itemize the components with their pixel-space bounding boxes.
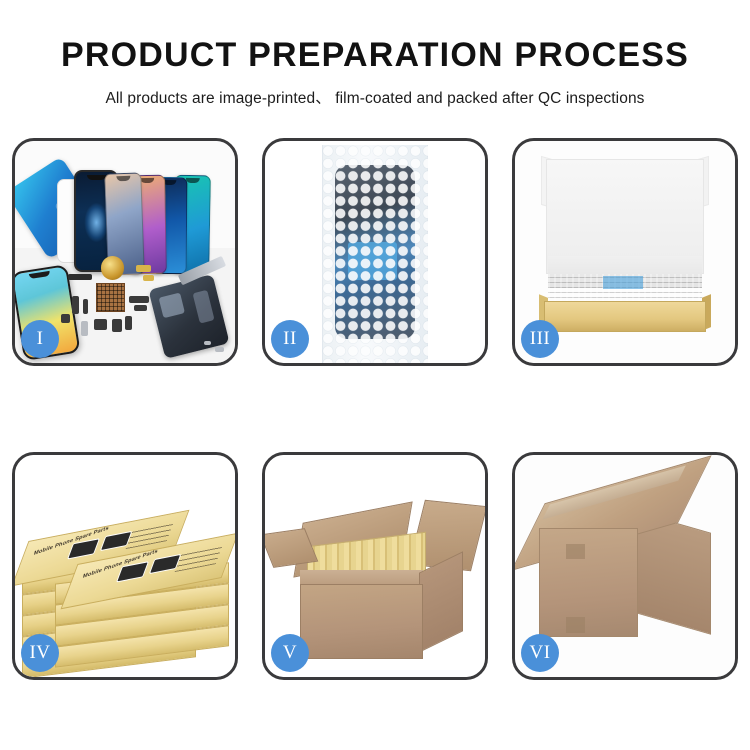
step-panel-1: I xyxy=(12,138,238,366)
phone-fan xyxy=(103,159,231,274)
step-panel-5: V xyxy=(262,452,488,680)
step-panel-3: III xyxy=(512,138,738,366)
chip-component xyxy=(96,283,125,312)
header: PRODUCT PREPARATION PROCESS All products… xyxy=(0,0,750,108)
carton-front-panel xyxy=(300,584,423,659)
page-subtitle: All products are image-printed、 film-coa… xyxy=(0,86,750,108)
box-front-panel xyxy=(544,301,707,332)
steps-grid: I II xyxy=(12,138,738,680)
step-panel-6: VI xyxy=(512,452,738,680)
box-contents-screens xyxy=(548,274,702,303)
carton-tab-upper xyxy=(566,544,586,560)
sealed-carton-front xyxy=(539,528,638,637)
product-preparation-infographic: PRODUCT PREPARATION PROCESS All products… xyxy=(0,0,750,750)
step-panel-4: Mobile Phone Spare Parts Mobile Phone Sp… xyxy=(12,452,238,680)
gold-coil-component xyxy=(101,256,124,279)
step-badge-5: V xyxy=(271,634,309,672)
step-badge-4: IV xyxy=(21,634,59,672)
page-title: PRODUCT PREPARATION PROCESS xyxy=(0,36,750,75)
step-badge-1: I xyxy=(21,320,59,358)
step-badge-3: III xyxy=(521,320,559,358)
step-badge-2: II xyxy=(271,320,309,358)
step-panel-2: II xyxy=(262,138,488,366)
carton-tab-lower xyxy=(566,617,586,633)
step-badge-6: VI xyxy=(521,634,559,672)
bubble-highlight-layer xyxy=(322,145,428,363)
